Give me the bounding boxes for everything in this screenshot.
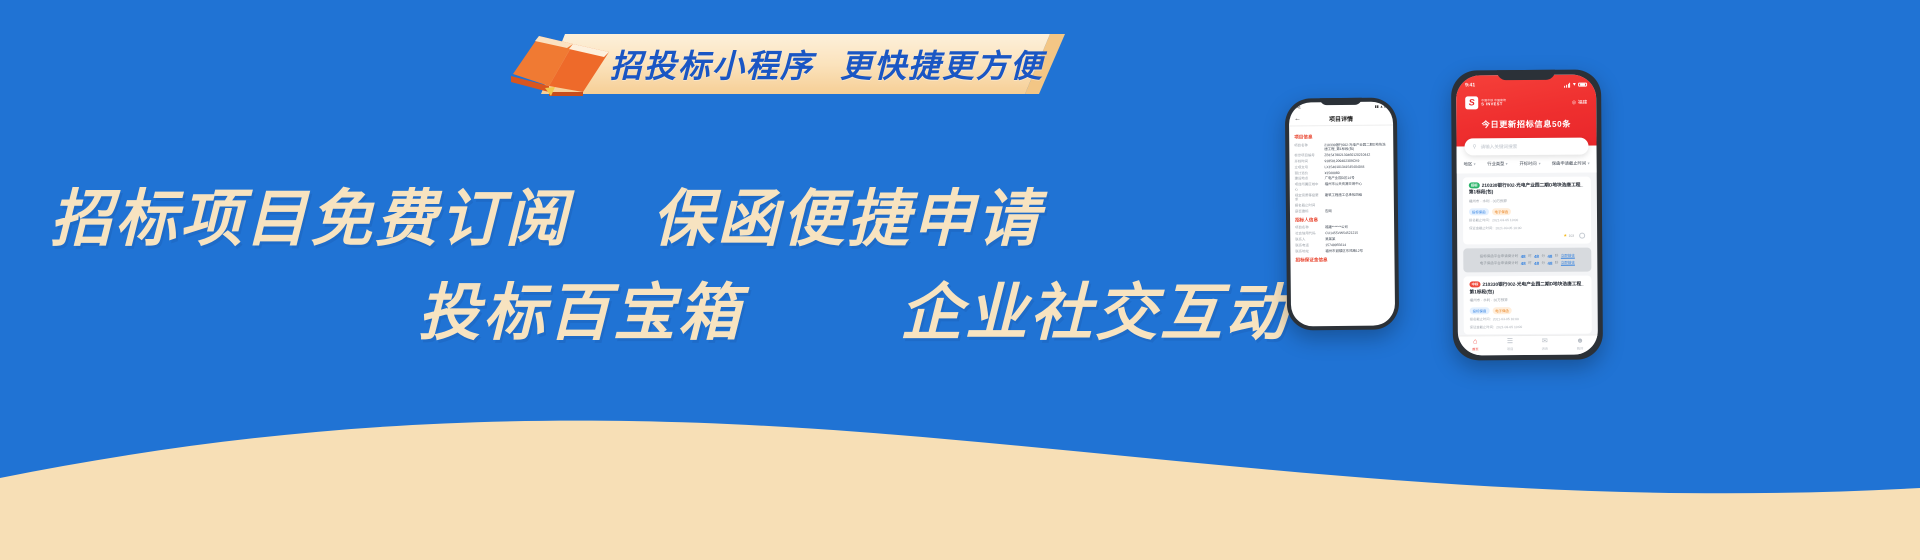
table-row: 项目所属区域中心福州市公共资源交易中心 — [1295, 182, 1389, 191]
home-header: 9:41 ▾ S 中国中铁 中国建 — [1456, 75, 1596, 147]
phone-mockups: 9:41 ▮▮ ▲ ▬ ← 项目详情 项目信息 项目名称210330银行002-… — [1276, 70, 1896, 360]
card-meta: 福州市 · 水利 · 30万预算 — [1470, 298, 1586, 304]
table-row: 联系地址福州市鼓楼区东风路12号 — [1295, 249, 1389, 254]
card-signup-deadline: 报名截止时间：2021-03-05 10:00 — [1470, 316, 1586, 322]
chip-bid-guarantee: 投标保函 — [1469, 208, 1489, 215]
logo-line1: 中国中铁 中国建筑 — [1481, 99, 1506, 102]
filter-industry[interactable]: 行业类型 — [1487, 161, 1508, 167]
star-count: 103 — [1569, 233, 1575, 237]
chip-bid-guarantee: 投标保函 — [1470, 307, 1490, 314]
open-book-icon — [505, 30, 623, 98]
table-row: 报名截止时间 — [1295, 202, 1389, 207]
countdown-panel: 投标保函平台申请倒计时 48时 48分 48秒 立即前往 电子保函平台申请倒计时… — [1463, 247, 1591, 272]
share-icon[interactable] — [1579, 232, 1585, 238]
chip-e-guarantee: 电子保函 — [1492, 307, 1512, 314]
status-time: 9:41 — [1465, 82, 1475, 88]
search-placeholder: 请输入关键词搜索 — [1481, 144, 1518, 150]
table-row: 立项文号LX1540101341545404044 — [1294, 164, 1388, 169]
ribbon-text-part2: 更快捷更方便 — [840, 41, 1044, 87]
signal-bars-icon — [1564, 82, 1571, 87]
location-selector[interactable]: ◎ 福建 — [1572, 99, 1587, 105]
countdown-row: 投标保函平台申请倒计时 48时 48分 48秒 立即前往 — [1469, 254, 1585, 260]
table-row: 联系人吴某某 — [1295, 237, 1389, 242]
project-list: 招标210330银行002-光电产业园二期D地块浩唐工程_第1标段(包) 福州市… — [1457, 173, 1598, 339]
phone-mockup-home: 9:41 ▾ S 中国中铁 中国建 — [1451, 69, 1603, 360]
bottom-wave-decoration — [0, 360, 1920, 560]
chip-e-guarantee: 电子保函 — [1492, 208, 1512, 215]
home-icon: ⌂ — [1473, 338, 1477, 345]
table-row: 规定资质等级要求建筑工程施工总承包四级 — [1295, 192, 1389, 201]
star-icon[interactable]: ★103 — [1563, 233, 1574, 238]
section-project-info: 项目信息 — [1294, 134, 1388, 141]
card-signup-deadline: 报名截止时间：2021-03-05 10:00 — [1469, 217, 1585, 223]
tab-projects[interactable]: ☰ 项目 — [1507, 338, 1513, 351]
table-row: 预计造价¥1560080 — [1295, 170, 1389, 175]
ribbon-text: 招投标小程序 更快捷更方便 — [610, 28, 1044, 100]
list-icon: ☰ — [1507, 338, 1513, 345]
bidder-info-rows: 项目名称福建*******公司 社会信用代码CU1455VW54521215 联… — [1295, 225, 1389, 254]
phone-mockup-detail: 9:41 ▮▮ ▲ ▬ ← 项目详情 项目信息 项目名称210330银行002-… — [1285, 97, 1399, 330]
ribbon-text-part1: 招投标小程序 — [610, 41, 814, 87]
detail-page-title: 项目详情 — [1289, 113, 1393, 123]
filter-guarantee-deadline[interactable]: 保函申请截止时间 — [1552, 161, 1590, 167]
search-bar[interactable]: ⚲ 请输入关键词搜索 — [1464, 138, 1588, 156]
status-time: 9:41 — [1294, 105, 1301, 109]
status-badge: 招标 — [1469, 182, 1480, 188]
table-row: 社会信用代码CU1455VW54521215 — [1295, 231, 1389, 236]
headline-toolbox: 投标百宝箱 — [418, 262, 743, 352]
bottom-tab-bar: ⌂ 首页 ☰ 项目 ✉ 消息 ☻ 我的 — [1458, 335, 1598, 356]
headline-guarantee: 保函便捷申请 — [652, 168, 1042, 258]
phone-notch — [1320, 98, 1362, 105]
section-deposit-info: 招标保证金信息 — [1295, 257, 1389, 264]
card-meta: 福州市 · 水利 · 30万预算 — [1469, 199, 1585, 205]
tab-home[interactable]: ⌂ 首页 — [1472, 338, 1478, 351]
table-row: 开标时间918501209402309CK9 — [1294, 158, 1388, 163]
logo-mark-icon: S — [1465, 96, 1478, 109]
table-row: 联系电话15740055614 — [1295, 243, 1389, 248]
table-row: 标示项目编号ZB1547802130460120210442 — [1294, 152, 1388, 157]
chevron-down-icon — [1474, 163, 1476, 165]
section-bidder-info: 招标人信息 — [1295, 216, 1389, 223]
app-logo: S 中国中铁 中国建筑 S INVEST — [1465, 96, 1506, 109]
card-chips: 投标保函 电子保函 — [1470, 307, 1586, 315]
goto-link[interactable]: 立即前往 — [1561, 254, 1575, 259]
table-row: 项目名称福建*******公司 — [1295, 225, 1389, 230]
card-deposit-deadline: 保证金截止时间：2021-03-05 10:00 — [1469, 224, 1585, 230]
goto-link[interactable]: 立即前往 — [1561, 260, 1575, 265]
card-title: 中标210330银行002-光电产业园二期D地块浩唐工程_第1标段(包) — [1469, 281, 1585, 296]
search-icon: ⚲ — [1473, 144, 1477, 150]
chevron-down-icon — [1588, 163, 1590, 165]
chevron-down-icon — [1506, 163, 1508, 165]
countdown-row: 电子保函平台申请倒计时 48时 48分 48秒 立即前往 — [1469, 260, 1585, 266]
filter-bid-time[interactable]: 开标时间 — [1519, 161, 1540, 167]
table-row: 建设地点广电产业园D区14号 — [1295, 176, 1389, 181]
card-deposit-deadline: 保证金截止时间：2021-03-05 10:00 — [1470, 324, 1586, 330]
logo-line2: S INVEST — [1481, 102, 1506, 107]
project-info-rows: 项目名称210330银行002-光电产业园二期D地块浩唐工程_第1标段(包) 标… — [1294, 142, 1389, 213]
chevron-down-icon — [1538, 163, 1540, 165]
status-bar: 9:41 ▾ — [1465, 79, 1587, 92]
list-item[interactable]: 中标210330银行002-光电产业园二期D地块浩唐工程_第1标段(包) 福州市… — [1463, 276, 1591, 335]
status-badge: 中标 — [1469, 282, 1480, 288]
filter-region[interactable]: 地区 — [1464, 161, 1476, 167]
headline-social: 企业社交互动 — [900, 262, 1290, 352]
table-row: 项目名称210330银行002-光电产业园二期D地块浩唐工程_第1标段(包) — [1294, 142, 1388, 151]
location-label: 福建 — [1578, 99, 1587, 105]
user-icon: ☻ — [1576, 338, 1583, 345]
wifi-icon: ▾ — [1573, 82, 1576, 88]
status-icons: ▮▮ ▲ ▬ — [1375, 105, 1388, 109]
banner-canvas: 招投标小程序 更快捷更方便 招标项目免费订阅 保函便捷申请 投标百宝箱 企业社交… — [0, 0, 1920, 560]
tab-profile[interactable]: ☻ 我的 — [1576, 338, 1583, 351]
message-icon: ✉ — [1542, 338, 1548, 345]
card-chips: 投标保函 电子保函 — [1469, 207, 1585, 215]
location-pin-icon: ◎ — [1572, 99, 1576, 105]
card-title: 招标210330银行002-光电产业园二期D地块浩唐工程_第1标段(包) — [1469, 182, 1585, 197]
table-row: 是否邀标否网 — [1295, 208, 1389, 213]
detail-navbar: ← 项目详情 — [1289, 111, 1393, 126]
list-item[interactable]: 招标210330银行002-光电产业园二期D地块浩唐工程_第1标段(包) 福州市… — [1463, 177, 1591, 245]
phone-notch — [1497, 70, 1555, 80]
tab-messages[interactable]: ✉ 消息 — [1542, 338, 1548, 351]
daily-update-banner: 今日更新招标信息50条 — [1465, 118, 1587, 131]
headline-subscribe: 招标项目免费订阅 — [50, 168, 570, 258]
ribbon-banner: 招投标小程序 更快捷更方便 — [505, 28, 1065, 100]
battery-icon — [1578, 82, 1587, 87]
